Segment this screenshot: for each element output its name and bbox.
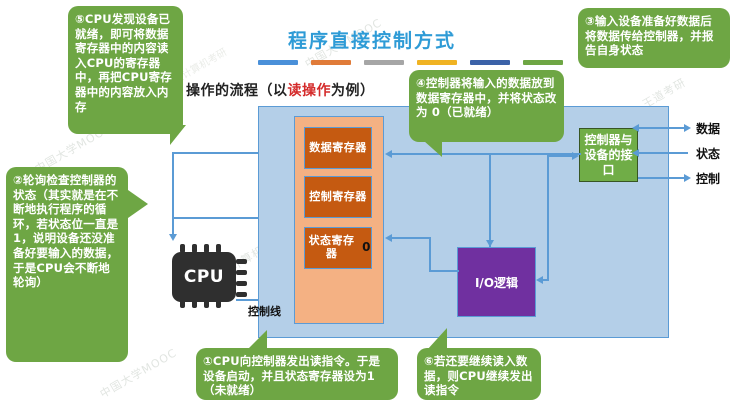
page-title: 程序直接控制方式 xyxy=(288,26,456,53)
bus-wire-control xyxy=(638,177,688,179)
wire-arrow-into-iologic-right xyxy=(536,276,543,284)
status-register-label: 状态寄存器 xyxy=(305,235,358,260)
subtitle-part-1: 操作的流程（以 xyxy=(186,83,288,99)
callout-6-tail xyxy=(427,328,447,350)
wire-data-line-to-iologic xyxy=(489,153,491,247)
callout-6: ⑥若还要继续读入数据，则CPU继续发出读指令 xyxy=(417,348,541,400)
callout-3: ③输入设备准备好数据后将数据传给控制器，并报告自身状态 xyxy=(578,8,730,68)
callout-1-tail xyxy=(249,330,267,348)
control-line-label: 控制线 xyxy=(248,303,281,319)
callout-4: ④控制器将输入的数据放到数据寄存器中，并将状态改为 0（已就绪） xyxy=(409,70,564,142)
io-logic-box: I/O逻辑 xyxy=(457,247,536,317)
bus-label-status: 状态 xyxy=(696,145,720,162)
status-register: 状态寄存器0 xyxy=(304,227,372,269)
accent-bar-6 xyxy=(523,60,563,65)
bus-arrow-data-out xyxy=(684,124,691,132)
callout-2: ②轮询检查控制器的状态（其实就是在不断地执行程序的循环，若状态位一直是1，说明设… xyxy=(6,167,128,362)
wire-iologic-to-status-upper xyxy=(391,237,431,239)
bus-arrow-data-in xyxy=(632,124,639,132)
accent-bar-1 xyxy=(258,60,298,65)
wire-arrow-into-status-register xyxy=(385,234,392,242)
control-register-label: 控制寄存器 xyxy=(309,191,367,204)
wire-arrow-into-interface xyxy=(572,152,579,160)
bus-wire-status xyxy=(638,152,688,154)
accent-bar-5 xyxy=(470,60,510,65)
data-register: 数据寄存器 xyxy=(304,127,372,169)
io-logic-label: I/O逻辑 xyxy=(475,274,518,291)
wire-interface-to-iologic-bottom xyxy=(542,279,549,281)
wire-arrow-into-data-register xyxy=(385,150,392,158)
wire-arrow-into-iologic-top xyxy=(486,240,494,247)
bus-label-data: 数据 xyxy=(696,120,720,137)
callout-2-tail xyxy=(128,190,148,218)
callout-1: ①CPU向控制器发出读指令。于是设备启动，并且状态寄存器设为1（未就绪） xyxy=(196,348,398,400)
wire-data-to-cpu-vertical xyxy=(172,152,174,236)
control-register: 控制寄存器 xyxy=(304,176,372,218)
interface-label: 控制器与设备的接口 xyxy=(580,133,637,178)
wire-iologic-to-status-vertical xyxy=(429,237,431,272)
status-register-value: 0 xyxy=(362,241,371,255)
subtitle-highlight: 读操作 xyxy=(288,83,332,99)
subtitle-part-2: 为例） xyxy=(331,83,375,99)
slide-subtitle: 操作的流程（以读操作为例） xyxy=(186,80,375,100)
callout-4-tail xyxy=(424,141,442,157)
bus-wire-data xyxy=(638,127,688,129)
cpu-chip: CPU xyxy=(164,243,244,309)
wire-interface-to-iologic-vertical xyxy=(547,155,549,281)
wire-iologic-to-status-lower xyxy=(429,270,459,272)
slide-canvas: 中国大学MOOC 中国大学MOOC 王道计算机考研 中国大学MOOC 中国大学M… xyxy=(0,0,737,403)
accent-bar-2 xyxy=(311,60,351,65)
callout-5: ⑤CPU发现设备已就绪，即可将数据寄存器中的内容读入CPU的寄存器中，再把CPU… xyxy=(68,6,183,134)
accent-bar-4 xyxy=(417,60,457,65)
bus-arrow-status-in xyxy=(632,149,639,157)
bus-arrow-control-out xyxy=(684,174,691,182)
controller-box: 数据寄存器 控制寄存器 状态寄存器0 xyxy=(294,116,384,324)
data-register-label: 数据寄存器 xyxy=(309,142,367,155)
bus-label-control: 控制 xyxy=(696,170,720,187)
controller-device-interface-box: 控制器与设备的接口 xyxy=(579,128,638,182)
accent-bar-3 xyxy=(364,60,404,65)
wire-data-to-cpu-horizontal xyxy=(172,152,268,154)
wire-arrow-into-cpu xyxy=(169,234,177,241)
cpu-label: CPU xyxy=(172,252,236,302)
